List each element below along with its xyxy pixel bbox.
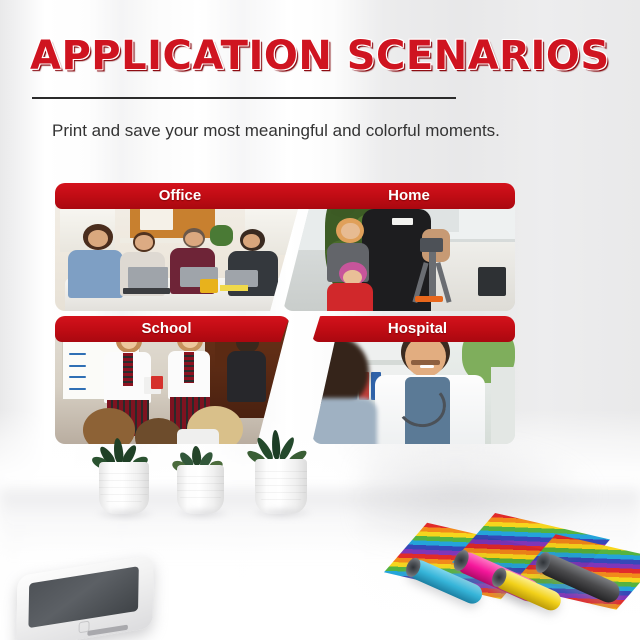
phone-screen [29,566,139,629]
scenario-label-home: Home [388,183,430,209]
scenario-caption-school: School [55,316,290,342]
scenario-card-school[interactable]: School [55,316,290,444]
scenario-label-hospital: Hospital [388,316,447,342]
scenario-card-hospital[interactable]: Hospital [312,316,515,444]
scenario-label-school: School [141,316,191,342]
scenario-card-office[interactable]: Office [55,183,305,311]
succulent-pot-right [252,448,310,514]
ribbon-roll-group [400,518,640,638]
succulent-pot-center [175,456,227,514]
scenario-caption-hospital: Hospital [312,316,515,342]
scenario-label-office: Office [159,187,202,204]
scenario-card-home[interactable]: Home [283,183,515,311]
succulent-pot-left [96,452,152,514]
scenario-caption-office: Office [55,183,305,209]
application-scenarios-page: APPLICATION SCENARIOS Print and save you… [0,0,640,640]
scenario-caption-home: Home [283,183,515,209]
